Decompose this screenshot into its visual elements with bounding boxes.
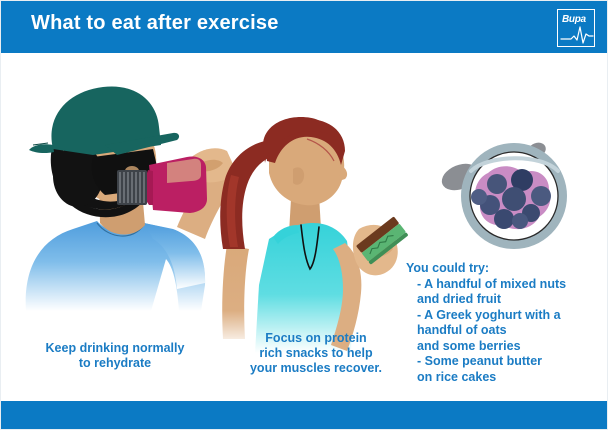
infographic-poster: What to eat after exercise Bupa [0,0,608,430]
man-cap-back [29,144,54,153]
caption-hydrate: Keep drinking normally to rehydrate [25,341,205,371]
suggestion-1-line2: and dried fruit [406,292,602,308]
caption-protein: Focus on protein rich snacks to help you… [233,331,399,376]
bowl-of-yoghurt-and-berries [438,140,567,249]
suggestions-lead: You could try: [406,261,602,277]
suggestions-list: You could try: - A handful of mixed nuts… [406,261,602,385]
caption-hydrate-line1: Keep drinking normally [46,341,185,355]
man-drinking-water [26,86,241,311]
woman-back-arm [222,245,249,339]
suggestion-2-line3: and some berries [406,339,602,355]
ecg-heartbeat-icon [560,23,594,45]
caption-protein-line2: rich snacks to help [259,346,372,360]
bupa-logo: Bupa [557,9,595,47]
woman-holding-snack-bar [220,117,408,353]
suggestion-2-line1: - A Greek yoghurt with a [406,308,602,324]
header-bar: What to eat after exercise Bupa [1,1,608,53]
caption-protein-line3: your muscles recover. [250,361,382,375]
footer-bar [1,401,608,430]
suggestion-1-line1: - A handful of mixed nuts [406,277,602,293]
suggestion-3-line2: on rice cakes [406,370,602,386]
caption-protein-line1: Focus on protein [265,331,366,345]
suggestion-3-line1: - Some peanut butter [406,354,602,370]
suggestion-2-line2: handful of oats [406,323,602,339]
page-title: What to eat after exercise [31,12,279,35]
caption-hydrate-line2: to rehydrate [79,356,151,370]
